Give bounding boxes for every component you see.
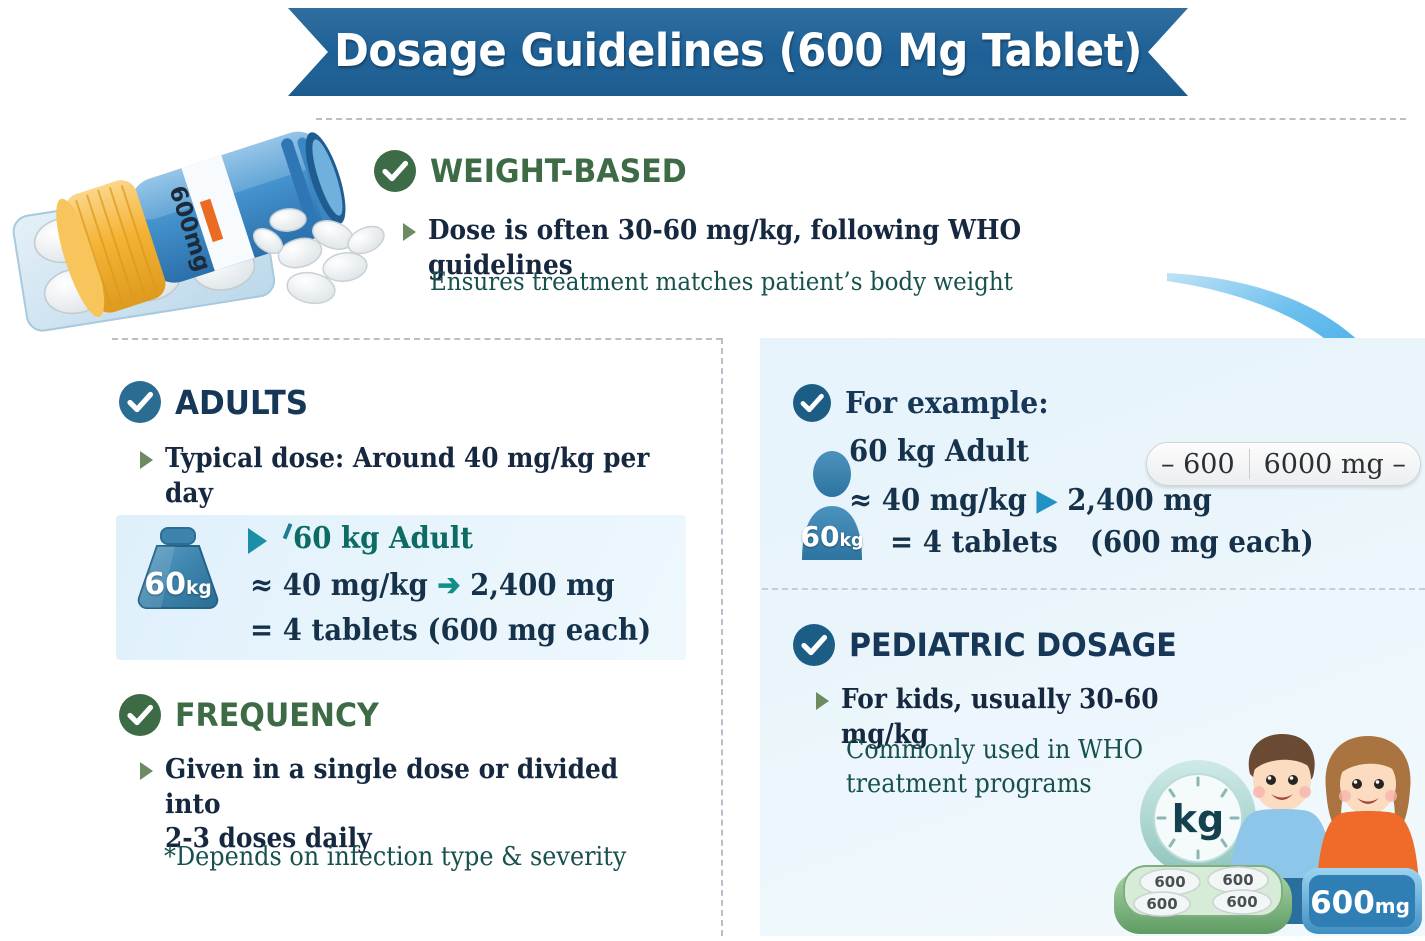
pill-bottle-blister-pack-illustration: 600mg xyxy=(0,45,400,335)
bullet-triangle-icon xyxy=(816,692,829,710)
tablet-label: 600 xyxy=(1154,873,1185,891)
weight-based-subtext: Ensures treatment matches patient’s body… xyxy=(430,265,1092,298)
divider-vertical xyxy=(721,338,723,936)
check-circle-green-icon xyxy=(119,694,161,736)
for-example-line3-a: = 4 tablets xyxy=(890,525,1058,560)
adults-example-line1: 60 kg Adult xyxy=(293,519,473,558)
divider-right-panel xyxy=(762,588,1425,590)
adults-bullet: Typical dose: Around 40 mg/kg per day xyxy=(140,442,700,511)
pill-badge-left: – 600 xyxy=(1147,449,1249,480)
page-title: Dosage Guidelines (600 Mg Tablet) xyxy=(320,8,1157,96)
for-example-line3-b: (600 mg each) xyxy=(1090,525,1314,560)
dose-pill-badge[interactable]: – 600 6000 mg – xyxy=(1146,442,1421,486)
bullet-triangle-icon xyxy=(140,451,153,469)
adults-example-line3: = 4 tablets (600 mg each) xyxy=(250,611,651,650)
check-circle-blue-icon xyxy=(793,624,835,666)
arrow-right-icon: ▶ xyxy=(1036,483,1057,518)
bullet-triangle-icon xyxy=(403,223,416,241)
for-example-line2-prefix: ≈ 40 mg/kg xyxy=(849,483,1027,518)
check-circle-blue-icon xyxy=(119,381,161,423)
section-heading-for-example: For example: xyxy=(793,384,1062,422)
adults-line2-prefix: ≈ 40 mg/kg xyxy=(250,568,428,603)
infographic-canvas: Dosage Guidelines (600 Mg Tablet) xyxy=(0,0,1425,936)
section-heading-pediatric: PEDIATRIC DOSAGE xyxy=(793,624,1198,666)
tablet-label: 600 xyxy=(1226,893,1257,911)
for-example-line2: ≈ 40 mg/kg ▶ 2,400 mg xyxy=(849,481,1212,520)
kids-with-scale-illustration: kg xyxy=(1100,720,1425,936)
title-ribbon: Dosage Guidelines (600 Mg Tablet) xyxy=(288,8,1188,96)
pill-badge-right: 6000 mg – xyxy=(1250,449,1420,480)
for-example-line3: = 4 tablets (600 mg each) xyxy=(890,523,1314,562)
for-example-title: For example: xyxy=(845,386,1049,421)
section-heading-weight-based: WEIGHT-BASED xyxy=(374,150,703,192)
tablet-label: 600 xyxy=(1146,895,1177,913)
adults-line2-suffix: 2,400 mg xyxy=(470,568,615,603)
for-example-line2-suffix: 2,400 mg xyxy=(1067,483,1212,518)
scale-kg-label: kg xyxy=(1172,797,1224,841)
arrow-right-icon: ➔ xyxy=(437,568,460,603)
adults-example-line2: ≈ 40 mg/kg ➔ 2,400 mg xyxy=(250,566,615,605)
check-circle-green-icon xyxy=(374,150,416,192)
section-heading-adults: ADULTS xyxy=(119,381,317,423)
frequency-subtext: *Depends on infection type & severity xyxy=(164,840,679,874)
tablet-label: 600 xyxy=(1222,871,1253,889)
weight-based-title: WEIGHT-BASED xyxy=(430,152,687,190)
adults-bullet-text: Typical dose: Around 40 mg/kg per day xyxy=(165,442,657,511)
for-example-line1: 60 kg Adult xyxy=(849,432,1029,471)
divider-mid-left xyxy=(112,338,722,340)
divider-top xyxy=(316,118,1406,120)
weight-60kg-icon: 60kg xyxy=(128,520,228,620)
adults-title: ADULTS xyxy=(175,383,308,422)
frequency-title: FREQUENCY xyxy=(175,696,379,734)
check-circle-blue-icon xyxy=(793,384,831,422)
section-heading-frequency: FREQUENCY xyxy=(119,694,392,736)
pediatric-title: PEDIATRIC DOSAGE xyxy=(849,626,1177,664)
example-triangle-icon xyxy=(248,528,267,554)
bullet-triangle-icon xyxy=(140,762,153,780)
